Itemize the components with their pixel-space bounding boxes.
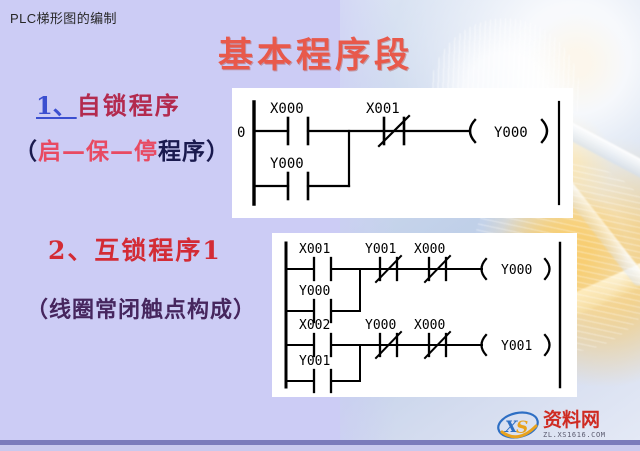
ladder2-r2-contact-4-label: X000 xyxy=(414,318,445,333)
coil-1-right-paren xyxy=(545,259,550,279)
ladder2-r2-coil-label: Y001 xyxy=(501,339,532,354)
watermark-text-block: 资料网 ZL.XS1616.COM xyxy=(543,411,606,439)
ladder1-step-label: 0 xyxy=(237,125,245,141)
section-2-title: 互锁程序1 xyxy=(94,236,221,265)
page-title: 基本程序段 xyxy=(218,27,413,78)
slide-canvas: PLC梯形图的编制 基本程序段 1、自锁程序 （启—保—停程序） 2、互锁程序1… xyxy=(0,0,640,451)
coil-2-right-paren xyxy=(545,335,550,355)
section-1-number: 1、 xyxy=(36,91,77,120)
watermark-url: ZL.XS1616.COM xyxy=(543,432,606,439)
section-1-sub-red: 启—保—停 xyxy=(38,138,158,165)
ladder1-contact-1-label: X000 xyxy=(270,101,304,117)
section-2-heading: 2、互锁程序1 xyxy=(48,231,222,267)
section-1-title: 自锁程序 xyxy=(77,91,181,120)
ladder-diagram-1-panel: 0 X000 Y000 X001 Y000 xyxy=(232,88,573,218)
coil-left-paren xyxy=(470,120,475,142)
xs-logo-icon: X S xyxy=(496,410,540,440)
header-title: PLC梯形图的编制 xyxy=(10,8,117,27)
ladder-diagram-2: X001 Y000 Y001 X000 Y000 X002 Y001 Y000 … xyxy=(272,233,577,397)
ladder1-coil-label: Y000 xyxy=(494,125,528,141)
ladder-diagram-1: 0 X000 Y000 X001 Y000 xyxy=(232,88,573,218)
ladder2-r1-coil-label: Y000 xyxy=(501,263,532,278)
ladder2-r2-contact-3-label: Y000 xyxy=(365,318,396,333)
ladder-diagram-2-panel: X001 Y000 Y001 X000 Y000 X002 Y001 Y000 … xyxy=(272,233,577,397)
ladder1-contact-2-label: Y000 xyxy=(270,156,304,172)
section-1-sub-open: （ xyxy=(14,138,38,165)
coil-2-left-paren xyxy=(482,335,487,355)
section-1-heading: 1、自锁程序 xyxy=(36,86,181,121)
ladder2-r1-contact-3-label: Y001 xyxy=(365,242,396,257)
coil-1-left-paren xyxy=(482,259,487,279)
section-1-subtitle: （启—保—停程序） xyxy=(14,132,230,166)
svg-text:S: S xyxy=(516,418,528,438)
ladder2-r2-contact-1-label: X002 xyxy=(299,318,330,333)
section-1-sub-dark: 程序 xyxy=(158,138,206,165)
ladder1-contact-3-label: X001 xyxy=(366,101,400,117)
section-2-subtitle: （线圈常闭触点构成） xyxy=(26,292,256,324)
ladder2-r1-contact-2-label: Y000 xyxy=(299,284,330,299)
watermark-site-name: 资料网 xyxy=(543,411,606,430)
section-1-sub-close: ） xyxy=(206,138,230,165)
watermark: X S 资料网 ZL.XS1616.COM xyxy=(496,404,636,446)
ladder2-r1-contact-1-label: X001 xyxy=(299,242,330,257)
coil-right-paren xyxy=(542,120,547,142)
ladder2-r2-contact-2-label: Y001 xyxy=(299,354,330,369)
ladder2-r1-contact-4-label: X000 xyxy=(414,242,445,257)
section-2-number: 2、 xyxy=(48,236,94,265)
